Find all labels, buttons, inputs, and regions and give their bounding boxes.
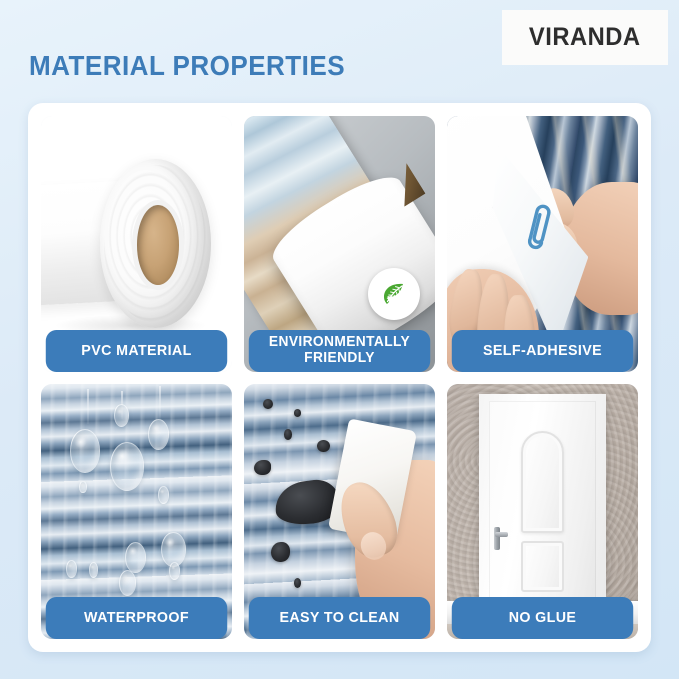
feature-card-self-adhesive[interactable]: SELF-ADHESIVE [447,116,638,372]
brand-name: VIRANDA [529,23,641,52]
feature-label-easy-to-clean: EASY TO CLEAN [249,597,430,639]
feature-card-pvc-material[interactable]: PVC MATERIAL [41,116,232,372]
door [489,401,596,613]
eco-badge [368,268,420,320]
features-panel: PVC MATERIAL [28,103,651,652]
cardboard-core-icon [137,205,179,284]
brand-logo: VIRANDA [502,10,668,65]
leaf-icon [378,278,410,310]
feature-card-environmentally-friendly[interactable]: ENVIRONMENTALLYFRIENDLY [244,116,435,372]
features-grid: PVC MATERIAL [41,116,638,639]
page-header: MATERIAL PROPERTIES VIRANDA [0,0,679,103]
feature-label-self-adhesive: SELF-ADHESIVE [452,330,633,372]
door-handle [494,527,500,550]
feature-card-easy-to-clean[interactable]: EASY TO CLEAN [244,384,435,640]
feature-label-pvc-material: PVC MATERIAL [46,330,227,372]
feature-card-waterproof[interactable]: WATERPROOF [41,384,232,640]
feature-label-environmentally-friendly: ENVIRONMENTALLYFRIENDLY [249,330,430,372]
page-title: MATERIAL PROPERTIES [29,50,345,82]
feature-card-no-glue[interactable]: NO GLUE [447,384,638,640]
feature-label-no-glue: NO GLUE [452,597,633,639]
feature-label-waterproof: WATERPROOF [46,597,227,639]
